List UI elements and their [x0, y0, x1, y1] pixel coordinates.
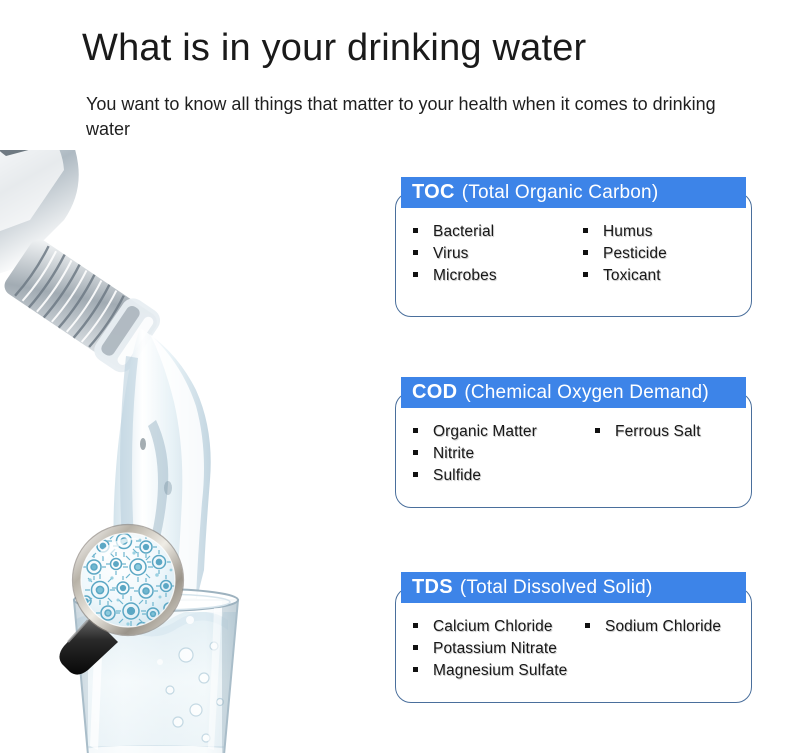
panel-tds-column-1: Calcium Chloride Potassium Nitrate Magne… — [413, 618, 567, 684]
bullet-square-icon — [413, 272, 418, 277]
list-item: Potassium Nitrate — [413, 640, 567, 662]
list-item: Ferrous Salt — [595, 423, 701, 445]
panel-tds-column-2: Sodium Chloride — [585, 618, 721, 640]
list-item: Magnesium Sulfate — [413, 662, 567, 684]
bullet-square-icon — [413, 472, 418, 477]
panel-toc-fullname: (Total Organic Carbon) — [462, 182, 659, 204]
list-item-label: Microbes — [433, 267, 497, 285]
list-item: Sodium Chloride — [585, 618, 721, 640]
list-item-label: Organic Matter — [433, 423, 537, 441]
bullet-square-icon — [413, 667, 418, 672]
water-pour-photo — [0, 150, 390, 753]
list-item-label: Sodium Chloride — [605, 618, 721, 636]
bullet-square-icon — [583, 250, 588, 255]
page-subtitle: You want to know all things that matter … — [86, 92, 746, 142]
panel-toc-header: TOC (Total Organic Carbon) — [401, 177, 746, 208]
panel-tds-acronym: TDS — [412, 576, 453, 599]
list-item: Humus — [583, 223, 667, 245]
page-title: What is in your drinking water — [82, 27, 586, 70]
list-item-label: Nitrite — [433, 445, 474, 463]
bullet-square-icon — [583, 272, 588, 277]
panel-cod-acronym: COD — [412, 381, 457, 404]
list-item: Sulfide — [413, 467, 537, 489]
list-item-label: Magnesium Sulfate — [433, 662, 567, 680]
list-item-label: Bacterial — [433, 223, 494, 241]
bullet-square-icon — [413, 428, 418, 433]
panel-toc-column-2: Humus Pesticide Toxicant — [583, 223, 667, 289]
panel-cod-fullname: (Chemical Oxygen Demand) — [464, 382, 709, 404]
list-item-label: Potassium Nitrate — [433, 640, 557, 658]
list-item: Calcium Chloride — [413, 618, 567, 640]
bullet-square-icon — [413, 623, 418, 628]
bullet-square-icon — [413, 228, 418, 233]
bullet-square-icon — [413, 250, 418, 255]
bullet-square-icon — [585, 623, 590, 628]
panel-cod-header: COD (Chemical Oxygen Demand) — [401, 377, 746, 408]
list-item: Microbes — [413, 267, 497, 289]
list-item-label: Ferrous Salt — [615, 423, 701, 441]
panel-cod-column-1: Organic Matter Nitrite Sulfide — [413, 423, 537, 489]
list-item-label: Pesticide — [603, 245, 667, 263]
panel-toc-column-1: Bacterial Virus Microbes — [413, 223, 497, 289]
list-item: Virus — [413, 245, 497, 267]
list-item: Organic Matter — [413, 423, 537, 445]
list-item: Nitrite — [413, 445, 537, 467]
list-item-label: Toxicant — [603, 267, 661, 285]
panel-tds-header: TDS (Total Dissolved Solid) — [401, 572, 746, 603]
infographic-page: What is in your drinking water You want … — [0, 0, 785, 753]
panel-tds-fullname: (Total Dissolved Solid) — [460, 577, 653, 599]
list-item: Pesticide — [583, 245, 667, 267]
bullet-square-icon — [413, 645, 418, 650]
list-item-label: Sulfide — [433, 467, 481, 485]
bullet-square-icon — [413, 450, 418, 455]
panel-toc-acronym: TOC — [412, 181, 455, 204]
bullet-square-icon — [595, 428, 600, 433]
list-item-label: Humus — [603, 223, 653, 241]
list-item-label: Virus — [433, 245, 469, 263]
list-item-label: Calcium Chloride — [433, 618, 553, 636]
panel-cod-column-2: Ferrous Salt — [595, 423, 701, 445]
list-item: Toxicant — [583, 267, 667, 289]
list-item: Bacterial — [413, 223, 497, 245]
bullet-square-icon — [583, 228, 588, 233]
